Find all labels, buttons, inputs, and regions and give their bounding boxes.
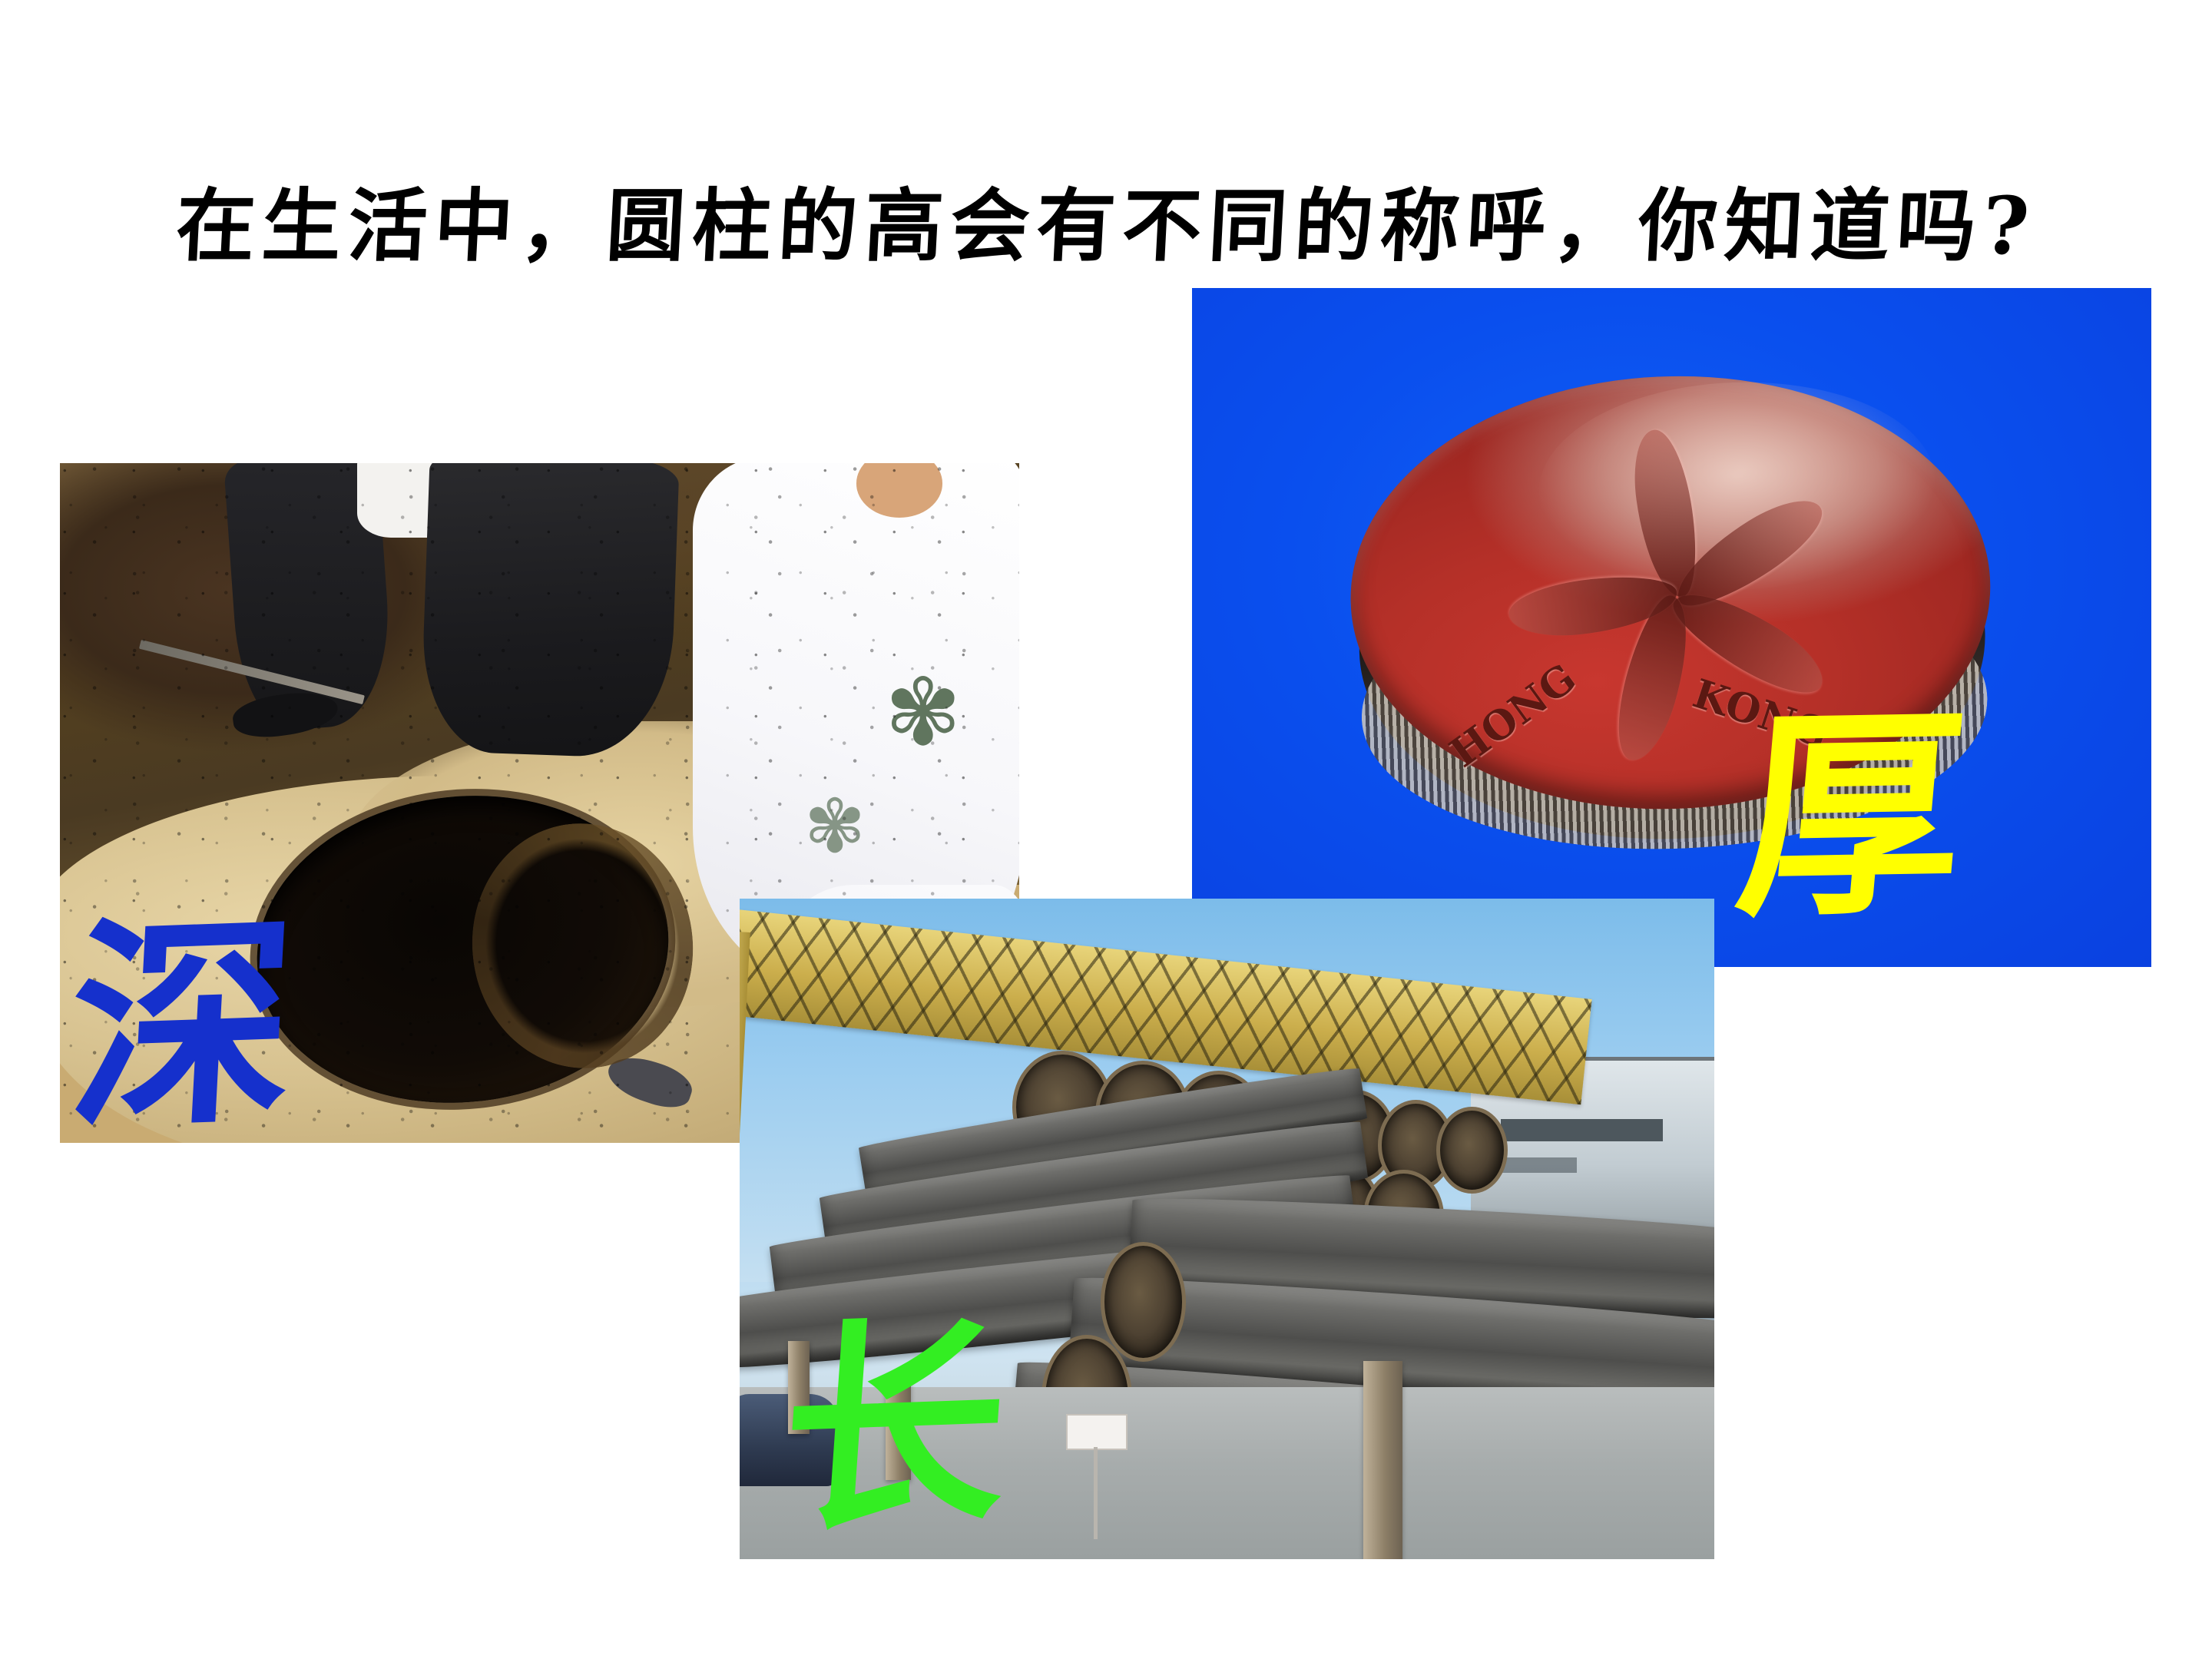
overlay-character-deep: 深 xyxy=(65,910,300,1141)
overlay-character-long: 长 xyxy=(775,1313,1014,1544)
photo-hong-kong-coin[interactable]: HONG KONG 厚 xyxy=(1192,288,2151,967)
presentation-slide: 在生活中，圆柱的高会有不同的称呼，你知道吗? ✾ ✾ ✾ 深 xyxy=(0,0,2212,1659)
photo-steel-pipes[interactable]: 长 xyxy=(740,899,1714,1559)
slide-title: 在生活中，圆柱的高会有不同的称呼，你知道吗? xyxy=(0,181,2212,272)
pipe-yard-sign xyxy=(1066,1414,1128,1450)
coin-legend-hong: HONG xyxy=(1442,654,1585,777)
sign-pole xyxy=(1094,1447,1098,1539)
overlay-character-thick: 厚 xyxy=(1730,703,1972,929)
